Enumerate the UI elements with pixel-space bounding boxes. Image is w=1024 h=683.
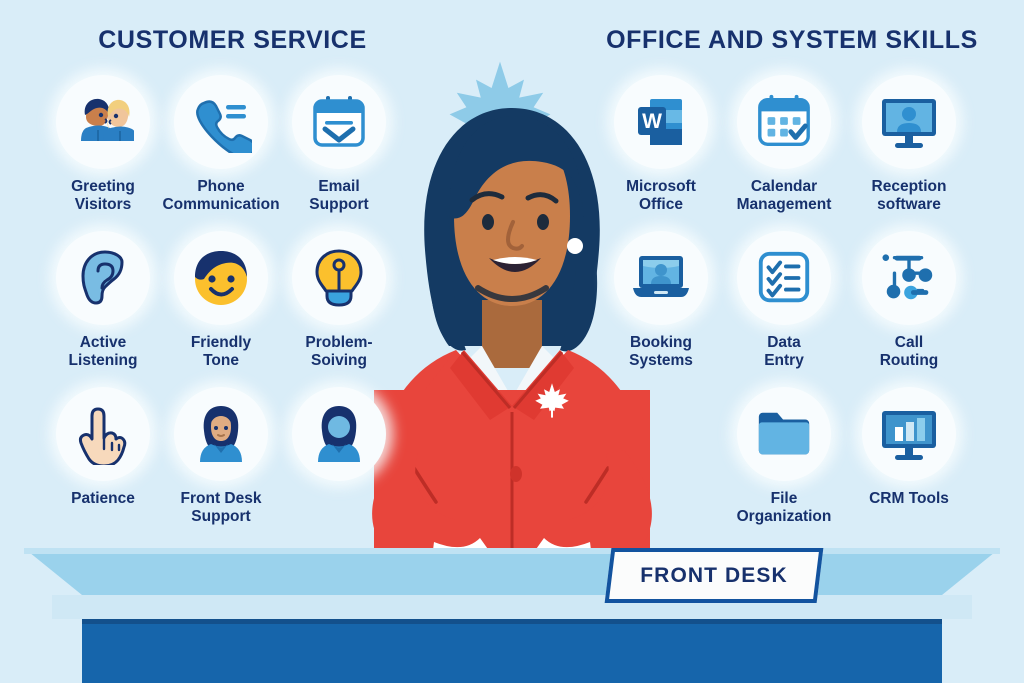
skill-user-avatar[interactable] (269, 387, 409, 490)
user-avatar-icon (292, 387, 386, 481)
skill-label: FileOrganization (714, 490, 854, 526)
folder-icon (737, 387, 831, 481)
laptop-person-icon (614, 231, 708, 325)
skill-calendar-management[interactable]: CalendarManagement (714, 75, 854, 214)
calendar-check-icon (737, 75, 831, 169)
calendar-mail-icon (292, 75, 386, 169)
network-nodes-icon (862, 231, 956, 325)
skill-label: DataEntry (714, 334, 854, 370)
monitor-person-icon (862, 75, 956, 169)
ear-icon (56, 231, 150, 325)
sign-label: FRONT DESK (608, 548, 820, 603)
skill-label: EmailSupport (269, 178, 409, 214)
lightbulb-icon (292, 231, 386, 325)
skill-label: BookingSystems (591, 334, 731, 370)
skill-label: Front DeskSupport (151, 490, 291, 526)
hand-pointing-icon (56, 387, 150, 481)
skill-microsoft-office[interactable]: W MicrosoftOffice (591, 75, 731, 214)
phone-icon (174, 75, 268, 169)
skill-email-support[interactable]: EmailSupport (269, 75, 409, 214)
receptionist-person-icon (174, 387, 268, 481)
skill-label: CRM Tools (839, 490, 979, 508)
checklist-icon (737, 231, 831, 325)
front-desk-sign: FRONT DESK (608, 548, 820, 603)
skill-label: CalendarManagement (714, 178, 854, 214)
skill-file-organization[interactable]: FileOrganization (714, 387, 854, 526)
reception-desk (0, 540, 1024, 683)
skill-crm-tools[interactable]: CRM Tools (839, 387, 979, 508)
monitor-chart-icon (862, 387, 956, 481)
skill-reception-software[interactable]: Receptionsoftware (839, 75, 979, 214)
skill-problem-solving[interactable]: Problem-Soiving (269, 231, 409, 370)
microsoft-word-icon: W (614, 75, 708, 169)
skill-label: CallRouting (839, 334, 979, 370)
skill-data-entry[interactable]: DataEntry (714, 231, 854, 370)
skill-label: MicrosoftOffice (591, 178, 731, 214)
smiley-face-icon (174, 231, 268, 325)
skill-label: Receptionsoftware (839, 178, 979, 214)
skill-call-routing[interactable]: CallRouting (839, 231, 979, 370)
svg-text:W: W (642, 110, 662, 133)
infographic-canvas: CUSTOMER SERVICE OFFICE AND SYSTEM SKILL… (0, 0, 1024, 683)
skill-label: Problem-Soiving (269, 334, 409, 370)
skill-booking-systems[interactable]: BookingSystems (591, 231, 731, 370)
two-people-icon (56, 75, 150, 169)
